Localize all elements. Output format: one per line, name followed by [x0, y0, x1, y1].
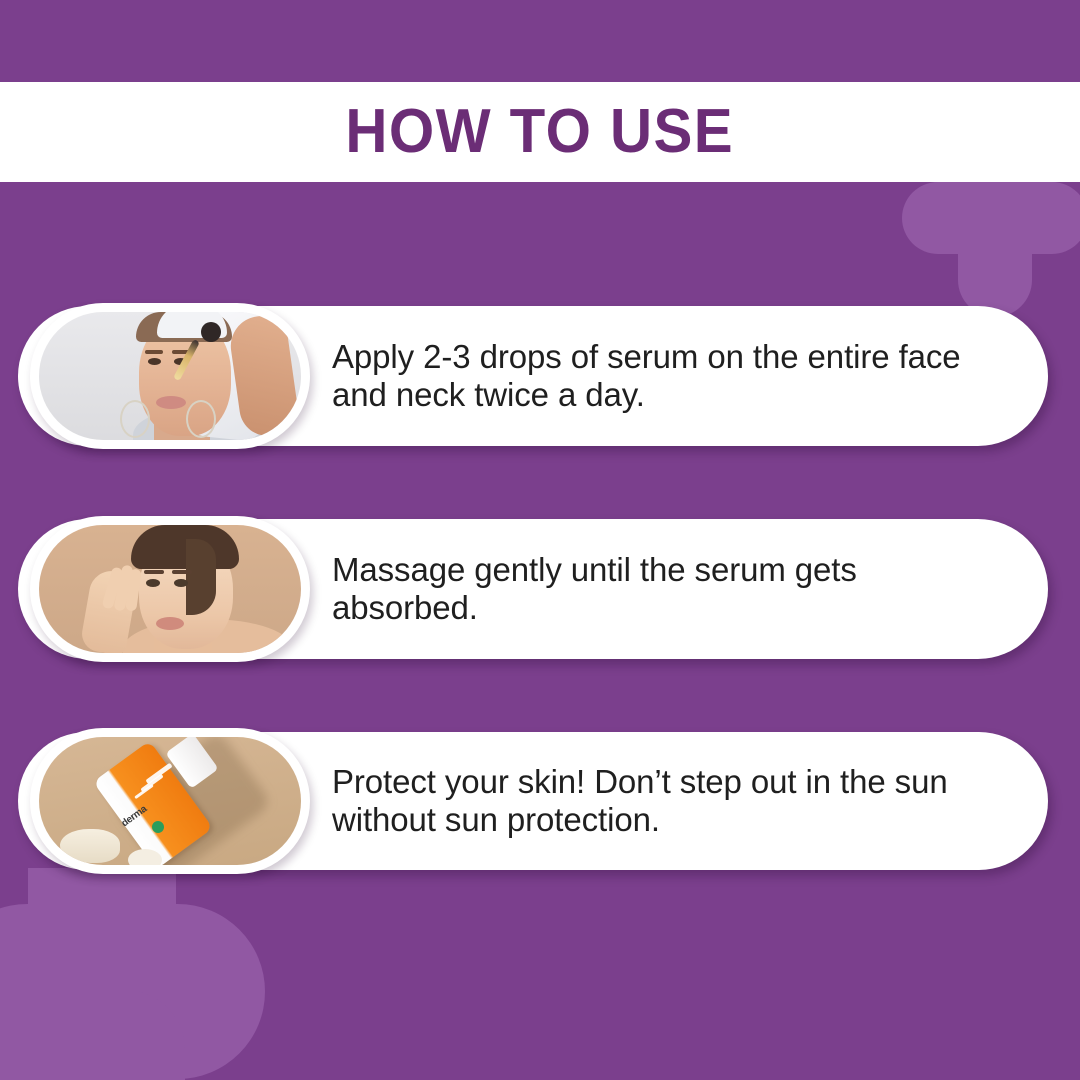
- woman-massaging-cheek-photo: [39, 525, 301, 653]
- step-card-2: Massage gently until the serum gets abso…: [18, 519, 1048, 659]
- eyebrow-right-shape: [172, 570, 192, 574]
- eye-right-shape: [174, 579, 188, 587]
- deco-bar-horizontal: [0, 904, 265, 1079]
- eyebrow-left-shape: [144, 570, 164, 574]
- deco-bar-vertical: [958, 182, 1032, 317]
- deco-bar-horizontal: [902, 182, 1080, 254]
- top-purple-strip: [0, 0, 1080, 82]
- step-card-1: Apply 2-3 drops of serum on the entire f…: [18, 306, 1048, 446]
- eyebrow-left-shape: [145, 350, 163, 354]
- step-1-thumbnail: [30, 303, 310, 449]
- title-band: HOW TO USE: [0, 82, 1080, 182]
- deco-bar-vertical: [28, 868, 176, 1080]
- deco-bar-horizontal: [0, 990, 185, 1080]
- sunscreen-tube-photo: derma: [39, 737, 301, 865]
- step-2-thumbnail: [30, 516, 310, 662]
- step-1-text: Apply 2-3 drops of serum on the entire f…: [332, 338, 1008, 415]
- hair-shape: [131, 525, 239, 569]
- lips-shape: [156, 396, 186, 409]
- lips-shape: [156, 617, 184, 630]
- photo-backdrop: [39, 525, 301, 653]
- eye-left-shape: [148, 358, 161, 365]
- how-to-use-poster: HOW TO USE: [0, 0, 1080, 1080]
- cream-dollop-small-shape: [128, 849, 162, 865]
- plus-shape-top-right-icon: [888, 182, 1080, 317]
- photo-backdrop: [39, 312, 301, 440]
- plus-shape-bottom-left-icon: [0, 868, 270, 1080]
- hair-side-shape: [186, 539, 216, 615]
- step-2-text: Massage gently until the serum gets abso…: [332, 551, 1008, 628]
- step-card-3: derma Protect your skin! Don’t step out …: [18, 732, 1048, 870]
- step-3-thumbnail: derma: [30, 728, 310, 874]
- photo-backdrop: derma: [39, 737, 301, 865]
- cream-dollop-shape: [60, 829, 120, 863]
- page-title: HOW TO USE: [346, 101, 735, 163]
- step-3-text: Protect your skin! Don’t step out in the…: [332, 763, 1008, 840]
- woman-applying-serum-dropper-photo: [39, 312, 301, 440]
- plus-shape-bottom-left-lower-icon: [0, 990, 190, 1080]
- hoop-earring-right-shape: [186, 400, 216, 438]
